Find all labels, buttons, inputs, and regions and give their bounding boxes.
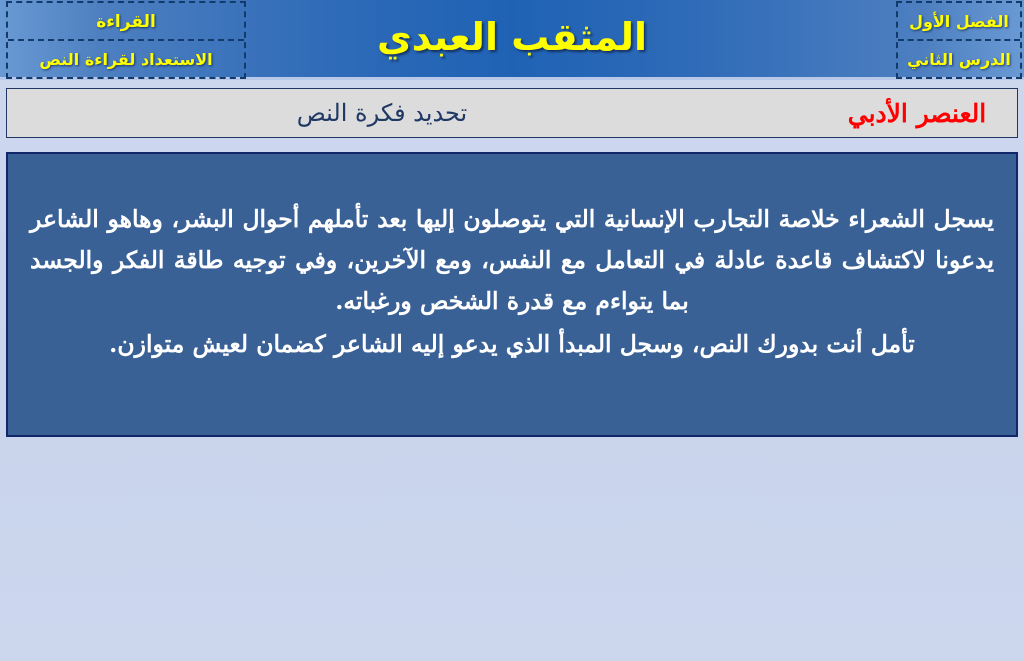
element-value: تحديد فكرة النص — [7, 99, 817, 127]
lesson-section-tags-right: الفصل الأول الدرس الثاني — [896, 1, 1022, 79]
tag-chapter-number[interactable]: الفصل الأول — [898, 3, 1020, 41]
tag-preparation-for-reading[interactable]: الاستعداد لقراءة النص — [8, 41, 244, 79]
element-label: العنصر الأدبي — [817, 99, 1017, 128]
slide-canvas: المثقب العبدي القراءة الاستعداد لقراءة ا… — [0, 0, 1024, 661]
tag-lesson-number[interactable]: الدرس الثاني — [898, 41, 1020, 79]
element-bar: العنصر الأدبي تحديد فكرة النص — [6, 88, 1018, 138]
body-paragraph-2: تأمل أنت بدورك النص، وسجل المبدأ الذي يد… — [30, 324, 994, 365]
lesson-section-tags-left: القراءة الاستعداد لقراءة النص — [6, 1, 246, 79]
body-paragraph-1: يسجل الشعراء خلاصة التجارب الإنسانية الت… — [30, 199, 994, 322]
body-content-box: يسجل الشعراء خلاصة التجارب الإنسانية الت… — [6, 152, 1018, 437]
slide-empty-area — [0, 437, 1024, 661]
tag-reading[interactable]: القراءة — [8, 3, 244, 41]
